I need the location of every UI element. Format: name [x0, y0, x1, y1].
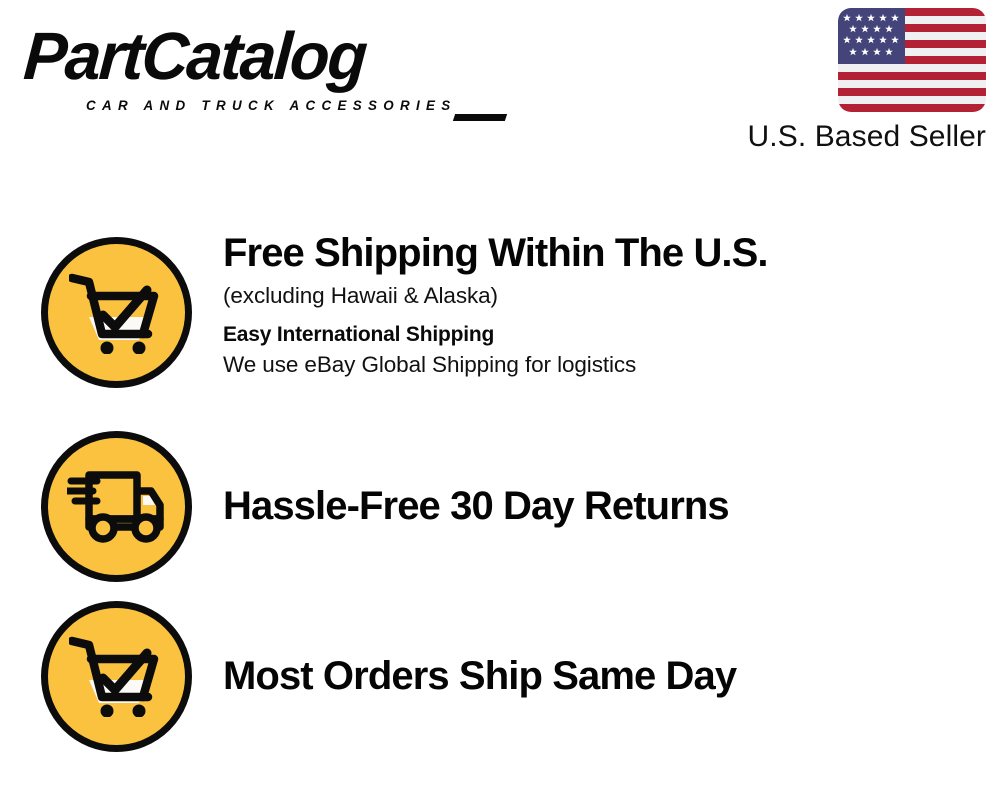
- logo-tagline: CAR AND TRUCK ACCESSORIES: [86, 98, 457, 114]
- us-flag-icon: [838, 8, 986, 112]
- logo-underline-swash: [453, 114, 507, 121]
- feature-text-block: Hassle-Free 30 Day Returns: [223, 483, 1000, 530]
- brand-logo[interactable]: PartCatalog CAR AND TRUCK ACCESSORIES: [24, 22, 494, 112]
- feature-list: Free Shipping Within The U.S. (excluding…: [0, 225, 1000, 761]
- feature-row: Free Shipping Within The U.S. (excluding…: [0, 225, 1000, 421]
- feature-title: Hassle-Free 30 Day Returns: [223, 483, 980, 530]
- feature-title: Most Orders Ship Same Day: [223, 653, 980, 700]
- feature-note: We use eBay Global Shipping for logistic…: [223, 350, 980, 380]
- feature-strong: Easy International Shipping: [223, 320, 980, 350]
- seller-label: U.S. Based Seller: [716, 120, 986, 154]
- feature-title: Free Shipping Within The U.S.: [223, 230, 980, 277]
- feature-row: Most Orders Ship Same Day: [0, 591, 1000, 761]
- feature-row: Hassle-Free 30 Day Returns: [0, 421, 1000, 591]
- shopping-cart-check-icon: [41, 601, 192, 752]
- page-header: PartCatalog CAR AND TRUCK ACCESSORIES: [0, 0, 1000, 170]
- delivery-truck-icon: [41, 431, 192, 582]
- us-based-seller-badge: U.S. Based Seller: [716, 8, 986, 154]
- shopping-cart-check-icon: [41, 237, 192, 388]
- feature-text-block: Most Orders Ship Same Day: [223, 653, 1000, 700]
- feature-subtitle: (excluding Hawaii & Alaska): [223, 280, 980, 311]
- logo-wordmark: PartCatalog: [22, 22, 483, 92]
- feature-text-block: Free Shipping Within The U.S. (excluding…: [223, 230, 1000, 380]
